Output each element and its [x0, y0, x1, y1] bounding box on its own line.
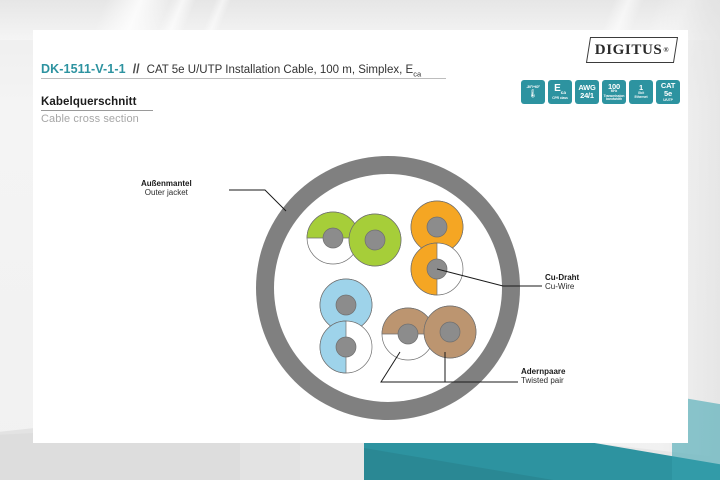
product-description-main: CAT 5e U/UTP Installation Cable, 100 m, …	[147, 64, 414, 76]
wire	[424, 306, 476, 358]
callout-label-de: Außenmantel	[141, 179, 192, 188]
badge-line1-text: E	[554, 83, 561, 94]
callout-label-en: Cu-Wire	[545, 282, 579, 291]
logo-wordmark-text: DIGITUS	[595, 42, 663, 59]
twisted-pair-green-pair	[307, 212, 401, 266]
wire-insulation	[349, 214, 401, 266]
wire-color-fill	[424, 306, 476, 358]
badge-line2-text: ca	[561, 90, 566, 95]
wire-copper-core	[427, 217, 447, 237]
callout-outer-jacket: Außenmantel Outer jacket	[141, 179, 192, 198]
wire-color-half	[411, 243, 437, 295]
wire-color-fill	[349, 214, 401, 266]
wire-insulation	[307, 212, 359, 264]
badge-line3: Ethernet	[635, 96, 648, 99]
wire	[411, 201, 463, 253]
wire	[411, 243, 463, 295]
registered-mark-icon: ®	[663, 46, 669, 54]
title-separator: //	[133, 62, 140, 76]
callout-label-de: Cu-Draht	[545, 273, 579, 282]
product-title-row: DK-1511-V-1-1 // CAT 5e U/UTP Installati…	[41, 62, 641, 78]
section-title-underline	[41, 110, 153, 111]
cable-outer-jacket	[256, 156, 520, 420]
section-heading: Kabelquerschnitt Cable cross section	[41, 96, 153, 125]
page-canvas: DIGITUS® DK-1511-V-1-1 // CAT 5e U/UTP I…	[0, 0, 720, 480]
logo-wordmark: DIGITUS®	[588, 37, 676, 63]
wire-insulation	[320, 321, 372, 373]
content-card: DIGITUS® DK-1511-V-1-1 // CAT 5e U/UTP I…	[33, 30, 688, 443]
badge-cat-class: CAT 5e U/UTP	[656, 80, 680, 104]
title-divider	[41, 78, 446, 79]
wire-insulation	[320, 279, 372, 331]
badge-temperature-range: -30°/+60° 🌡	[521, 80, 545, 104]
wire-color-half	[307, 212, 359, 238]
product-description: CAT 5e U/UTP Installation Cable, 100 m, …	[147, 64, 421, 78]
badge-fire-class: Eca CPR class	[548, 80, 572, 104]
callout-cu-wire: Cu-Draht Cu-Wire	[545, 273, 579, 292]
badge-line3: Transmission bandwidth	[602, 95, 626, 102]
product-description-subscript: ca	[413, 69, 421, 78]
badge-ethernet-speed: 1 Gbit Ethernet	[629, 80, 653, 104]
wire	[349, 214, 401, 266]
wire-insulation	[382, 308, 434, 360]
callout-label-en: Outer jacket	[141, 188, 192, 197]
badge-bandwidth: 100 MHz Transmission bandwidth	[602, 80, 626, 104]
wire-copper-core	[440, 322, 460, 342]
wire	[382, 308, 434, 360]
digitus-logo: DIGITUS®	[588, 37, 676, 63]
section-title-de: Kabelquerschnitt	[41, 96, 153, 108]
badge-line1: Eca	[554, 84, 566, 96]
badge-line2: 24/1	[580, 92, 594, 100]
wire-copper-core	[427, 259, 447, 279]
cable-core-area	[274, 174, 502, 402]
wire-insulation	[411, 201, 463, 253]
wire-copper-core	[398, 324, 418, 344]
wire	[307, 212, 359, 264]
callout-twisted-pair: Adernpaare Twisted pair	[521, 367, 565, 386]
wire-color-half	[320, 321, 346, 373]
twisted-pair-blue-pair	[320, 279, 372, 373]
callout-label-de: Adernpaare	[521, 367, 565, 376]
wire-insulation	[411, 243, 463, 295]
product-sku: DK-1511-V-1-1	[41, 62, 126, 76]
twisted-pair-orange-pair	[411, 201, 463, 295]
badge-awg: AWG 24/1	[575, 80, 599, 104]
badge-line3: CPR class	[552, 97, 568, 100]
badge-line2: 5e	[664, 90, 672, 98]
wire-color-fill	[411, 201, 463, 253]
wire-copper-core	[365, 230, 385, 250]
badge-line2: MHz	[611, 90, 618, 93]
wire-copper-core	[336, 337, 356, 357]
twisted-pair-brown-pair	[382, 306, 476, 360]
wire	[320, 321, 372, 373]
wire-color-half	[382, 308, 434, 334]
section-title-en: Cable cross section	[41, 113, 153, 125]
thermometer-icon: 🌡	[528, 90, 538, 98]
callout-label-en: Twisted pair	[521, 376, 565, 385]
badge-line3: U/UTP	[663, 99, 673, 102]
leader-lines	[229, 190, 542, 382]
wire	[320, 279, 372, 331]
wire-insulation	[424, 306, 476, 358]
wire-copper-core	[323, 228, 343, 248]
wire-color-fill	[320, 279, 372, 331]
wire-copper-core	[336, 295, 356, 315]
spec-badge-strip: -30°/+60° 🌡 Eca CPR class AWG 24/1 100 M…	[521, 80, 680, 104]
